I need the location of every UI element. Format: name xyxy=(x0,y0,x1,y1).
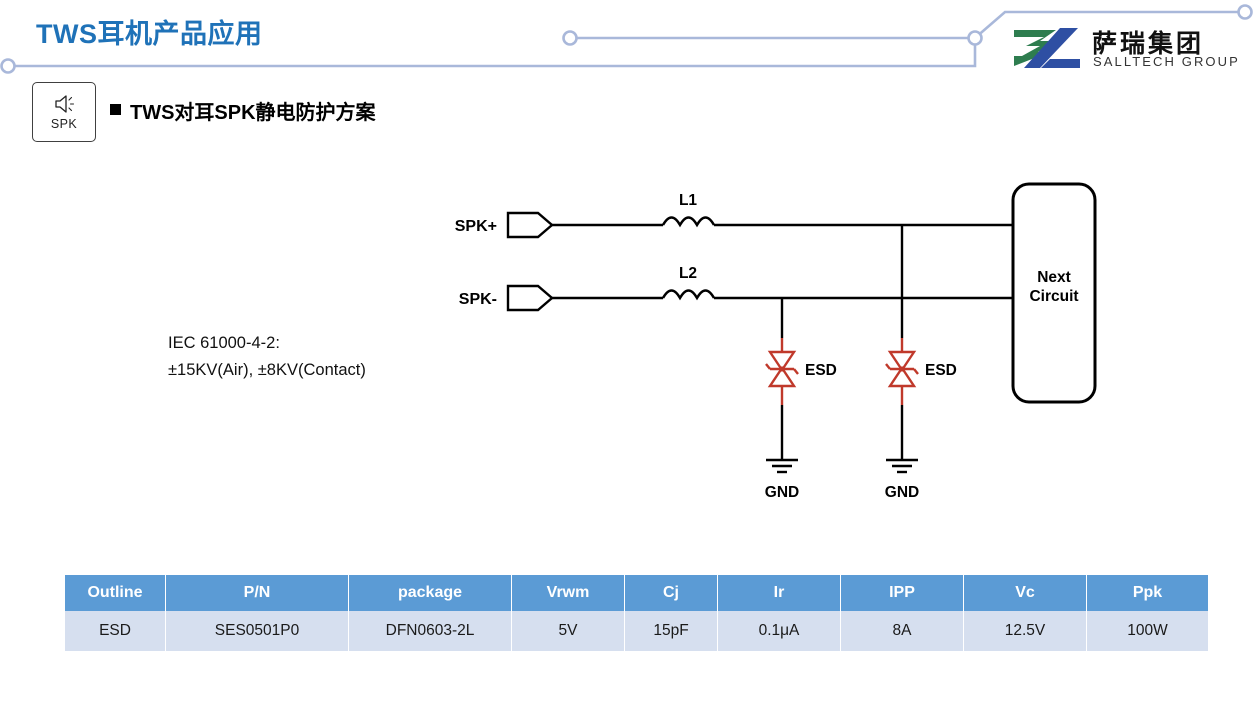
deco-node-right xyxy=(1239,6,1252,19)
logo-english-name: SALLTECH GROUP xyxy=(1093,54,1240,69)
esd-left-label: ESD xyxy=(805,362,837,379)
cell-pn: SES0501P0 xyxy=(166,611,348,651)
esd-right-label: ESD xyxy=(925,362,957,379)
col-package: package xyxy=(349,575,511,611)
spk-plus-label: SPK+ xyxy=(455,218,497,235)
spk-minus-label: SPK- xyxy=(459,291,497,308)
section-subtitle: TWS对耳SPK静电防护方案 xyxy=(130,96,376,125)
spk-badge: SPK xyxy=(32,82,96,142)
section-bullet-icon xyxy=(110,104,121,115)
inductor-l1-label: L1 xyxy=(679,192,697,209)
col-vc: Vc xyxy=(964,575,1086,611)
deco-node-left xyxy=(2,60,15,73)
iec-note-line2: ±15KV(Air), ±8KV(Contact) xyxy=(168,357,366,384)
gnd-right-label: GND xyxy=(885,484,919,501)
col-ipp: IPP xyxy=(841,575,963,611)
deco-node-mid xyxy=(564,32,577,45)
cell-package: DFN0603-2L xyxy=(349,611,511,651)
table-header-row: Outline P/N package Vrwm Cj Ir IPP Vc Pp… xyxy=(65,575,1208,611)
col-ir: Ir xyxy=(718,575,840,611)
col-cj: Cj xyxy=(625,575,717,611)
cell-ppk: 100W xyxy=(1087,611,1208,651)
col-pn: P/N xyxy=(166,575,348,611)
spec-table: Outline P/N package Vrwm Cj Ir IPP Vc Pp… xyxy=(64,575,1209,651)
cell-ipp: 8A xyxy=(841,611,963,651)
logo-mark-icon xyxy=(1010,26,1084,70)
iec-note-line1: IEC 61000-4-2: xyxy=(168,330,366,357)
cell-vrwm: 5V xyxy=(512,611,624,651)
page-title: TWS耳机产品应用 xyxy=(36,12,263,51)
spk-minus-connector xyxy=(508,286,552,310)
spk-plus-connector xyxy=(508,213,552,237)
cell-ir: 0.1μA xyxy=(718,611,840,651)
cell-vc: 12.5V xyxy=(964,611,1086,651)
slide-root: TWS耳机产品应用 萨瑞集团 SALLTECH GROUP SPK TWS对耳S… xyxy=(0,0,1256,704)
esd-diode-left xyxy=(766,338,798,472)
deco-node-corner xyxy=(969,32,982,45)
table-row: ESD SES0501P0 DFN0603-2L 5V 15pF 0.1μA 8… xyxy=(65,611,1208,651)
col-ppk: Ppk xyxy=(1087,575,1208,611)
spk-badge-label: SPK xyxy=(51,117,77,131)
gnd-left-label: GND xyxy=(765,484,799,501)
next-circuit-label-line1: Next xyxy=(1037,269,1071,286)
next-circuit-label-line2: Circuit xyxy=(1029,288,1078,305)
speaker-icon xyxy=(53,94,75,114)
inductor-l2-label: L2 xyxy=(679,265,697,282)
brand-logo: 萨瑞集团 SALLTECH GROUP xyxy=(1010,24,1246,76)
iec-standard-note: IEC 61000-4-2: ±15KV(Air), ±8KV(Contact) xyxy=(168,330,366,384)
col-vrwm: Vrwm xyxy=(512,575,624,611)
col-outline: Outline xyxy=(65,575,165,611)
cell-outline: ESD xyxy=(65,611,165,651)
cell-cj: 15pF xyxy=(625,611,717,651)
esd-diode-right xyxy=(886,338,918,472)
